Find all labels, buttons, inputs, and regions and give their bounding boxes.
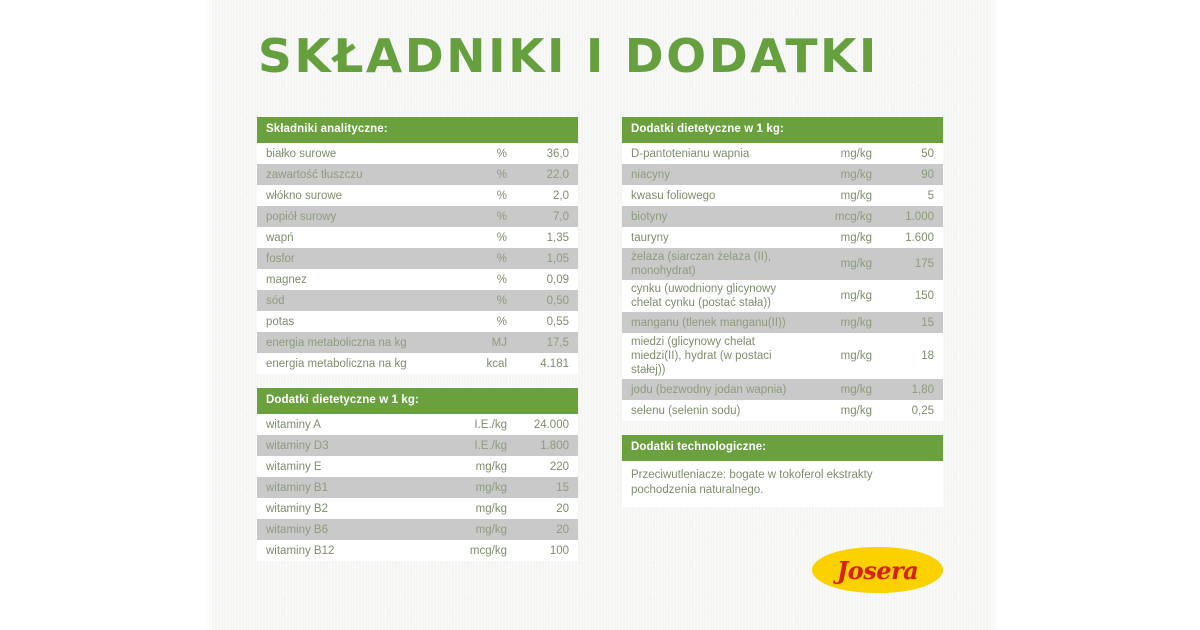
row-label: energia metaboliczna na kg — [266, 336, 445, 350]
row-unit: mg/kg — [445, 523, 511, 537]
table-row: manganu (tlenek manganu(II))mg/kg15 — [622, 312, 943, 333]
row-label: selenu (selenin sodu) — [631, 404, 810, 418]
row-value: 1.600 — [876, 231, 934, 245]
row-label: cynku (uwodniony glicynowy chelat cynku … — [631, 282, 810, 310]
table-row: witaminy B12mcg/kg100 — [257, 540, 578, 561]
table-block-header: Składniki analityczne: — [257, 117, 578, 143]
row-unit: kcal — [445, 357, 511, 371]
row-label: potas — [266, 315, 445, 329]
table-row: witaminy Emg/kg220 — [257, 456, 578, 477]
table-row: selenu (selenin sodu)mg/kg0,25 — [622, 400, 943, 421]
row-value: 0,55 — [511, 315, 569, 329]
row-unit: % — [445, 294, 511, 308]
table-row: magnez%0,09 — [257, 269, 578, 290]
table-block-header: Dodatki dietetyczne w 1 kg: — [257, 388, 578, 414]
josera-logo: Josera — [812, 547, 943, 593]
row-value: 100 — [511, 544, 569, 558]
table-block: Składniki analityczne:białko surowe%36,0… — [257, 117, 578, 374]
row-label: energia metaboliczna na kg — [266, 357, 445, 371]
row-label: witaminy B2 — [266, 502, 445, 516]
row-unit: % — [445, 147, 511, 161]
row-unit: % — [445, 231, 511, 245]
row-label: D-pantotenianu wapnia — [631, 147, 810, 161]
row-value: 90 — [876, 168, 934, 182]
table-row: cynku (uwodniony glicynowy chelat cynku … — [622, 280, 943, 312]
row-label: witaminy E — [266, 460, 445, 474]
row-label: popiół surowy — [266, 210, 445, 224]
table-block: Dodatki dietetyczne w 1 kg:D-pantotenian… — [622, 117, 943, 421]
row-value: 15 — [511, 481, 569, 495]
table-row: witaminy B1mg/kg15 — [257, 477, 578, 498]
row-value: 1,05 — [511, 252, 569, 266]
row-value: 20 — [511, 502, 569, 516]
row-unit: I.E./kg — [445, 418, 511, 432]
row-value: 175 — [876, 257, 934, 271]
row-unit: mg/kg — [810, 231, 876, 245]
row-unit: mg/kg — [810, 289, 876, 303]
table-block-note: Przeciwutleniacze: bogate w tokoferol ek… — [622, 461, 943, 507]
row-label: żelaza (siarczan żelaza (II), monohydrat… — [631, 250, 810, 278]
table-rows: D-pantotenianu wapniamg/kg50niacynymg/kg… — [622, 143, 943, 421]
row-unit: MJ — [445, 336, 511, 350]
row-unit: % — [445, 210, 511, 224]
row-value: 150 — [876, 289, 934, 303]
row-value: 15 — [876, 316, 934, 330]
row-unit: mg/kg — [445, 460, 511, 474]
table-row: biotynymcg/kg1.000 — [622, 206, 943, 227]
row-unit: % — [445, 273, 511, 287]
row-label: witaminy B6 — [266, 523, 445, 537]
page-root: SKŁADNIKI I DODATKI Składniki analityczn… — [0, 0, 1200, 630]
table-row: energia metaboliczna na kgMJ17,5 — [257, 332, 578, 353]
table-row: jodu (bezwodny jodan wapnia)mg/kg1,80 — [622, 379, 943, 400]
row-unit: mg/kg — [445, 502, 511, 516]
row-value: 0,09 — [511, 273, 569, 287]
table-block: Dodatki dietetyczne w 1 kg:witaminy AI.E… — [257, 388, 578, 561]
left-column: Składniki analityczne:białko surowe%36,0… — [257, 117, 578, 561]
row-unit: mg/kg — [445, 481, 511, 495]
row-label: manganu (tlenek manganu(II)) — [631, 316, 810, 330]
row-label: sód — [266, 294, 445, 308]
table-row: witaminy AI.E./kg24.000 — [257, 414, 578, 435]
row-label: witaminy B12 — [266, 544, 445, 558]
table-row: białko surowe%36,0 — [257, 143, 578, 164]
row-value: 22,0 — [511, 168, 569, 182]
row-unit: mg/kg — [810, 383, 876, 397]
page-title: SKŁADNIKI I DODATKI — [258, 26, 972, 86]
table-row: wapń%1,35 — [257, 227, 578, 248]
row-label: kwasu foliowego — [631, 189, 810, 203]
row-value: 1.000 — [876, 210, 934, 224]
row-label: fosfor — [266, 252, 445, 266]
row-value: 4.181 — [511, 357, 569, 371]
table-row: zawartość tłuszczu%22,0 — [257, 164, 578, 185]
row-unit: I.E./kg — [445, 439, 511, 453]
row-unit: mcg/kg — [810, 210, 876, 224]
row-value: 7,0 — [511, 210, 569, 224]
row-label: tauryny — [631, 231, 810, 245]
row-value: 24.000 — [511, 418, 569, 432]
right-column: Dodatki dietetyczne w 1 kg:D-pantotenian… — [622, 117, 943, 507]
row-value: 17,5 — [511, 336, 569, 350]
row-value: 0,50 — [511, 294, 569, 308]
row-label: włókno surowe — [266, 189, 445, 203]
row-unit: mg/kg — [810, 404, 876, 418]
table-row: niacynymg/kg90 — [622, 164, 943, 185]
table-row: D-pantotenianu wapniamg/kg50 — [622, 143, 943, 164]
table-row: witaminy B2mg/kg20 — [257, 498, 578, 519]
row-unit: % — [445, 315, 511, 329]
table-block-header: Dodatki dietetyczne w 1 kg: — [622, 117, 943, 143]
table-row: potas%0,55 — [257, 311, 578, 332]
row-value: 36,0 — [511, 147, 569, 161]
table-row: żelaza (siarczan żelaza (II), monohydrat… — [622, 248, 943, 280]
row-label: witaminy B1 — [266, 481, 445, 495]
row-label: zawartość tłuszczu — [266, 168, 445, 182]
row-unit: mg/kg — [810, 349, 876, 363]
row-value: 0,25 — [876, 404, 934, 418]
table-block-header: Dodatki technologiczne: — [622, 435, 943, 461]
table-block: Dodatki technologiczne:Przeciwutleniacze… — [622, 435, 943, 507]
row-label: białko surowe — [266, 147, 445, 161]
row-value: 1,80 — [876, 383, 934, 397]
row-unit: mg/kg — [810, 316, 876, 330]
table-row: fosfor%1,05 — [257, 248, 578, 269]
row-unit: mg/kg — [810, 168, 876, 182]
table-rows: białko surowe%36,0zawartość tłuszczu%22,… — [257, 143, 578, 374]
row-unit: mcg/kg — [445, 544, 511, 558]
row-value: 5 — [876, 189, 934, 203]
table-row: witaminy D3I.E./kg1.800 — [257, 435, 578, 456]
row-label: witaminy A — [266, 418, 445, 432]
row-value: 1,35 — [511, 231, 569, 245]
row-value: 18 — [876, 349, 934, 363]
row-label: miedzi (glicynowy chelat miedzi(II), hyd… — [631, 335, 810, 377]
table-row: taurynymg/kg1.600 — [622, 227, 943, 248]
row-unit: % — [445, 189, 511, 203]
row-label: witaminy D3 — [266, 439, 445, 453]
row-value: 2,0 — [511, 189, 569, 203]
table-row: energia metaboliczna na kgkcal4.181 — [257, 353, 578, 374]
logo-wordmark: Josera — [812, 547, 943, 593]
table-row: miedzi (glicynowy chelat miedzi(II), hyd… — [622, 333, 943, 379]
row-label: biotyny — [631, 210, 810, 224]
table-row: kwasu foliowegomg/kg5 — [622, 185, 943, 206]
row-value: 50 — [876, 147, 934, 161]
row-unit: % — [445, 168, 511, 182]
row-label: wapń — [266, 231, 445, 245]
row-label: jodu (bezwodny jodan wapnia) — [631, 383, 810, 397]
table-row: witaminy B6mg/kg20 — [257, 519, 578, 540]
row-unit: % — [445, 252, 511, 266]
row-unit: mg/kg — [810, 189, 876, 203]
row-label: magnez — [266, 273, 445, 287]
row-unit: mg/kg — [810, 147, 876, 161]
row-unit: mg/kg — [810, 257, 876, 271]
row-value: 1.800 — [511, 439, 569, 453]
table-row: popiół surowy%7,0 — [257, 206, 578, 227]
row-value: 20 — [511, 523, 569, 537]
row-value: 220 — [511, 460, 569, 474]
row-label: niacyny — [631, 168, 810, 182]
table-row: włókno surowe%2,0 — [257, 185, 578, 206]
table-rows: witaminy AI.E./kg24.000witaminy D3I.E./k… — [257, 414, 578, 561]
table-row: sód%0,50 — [257, 290, 578, 311]
